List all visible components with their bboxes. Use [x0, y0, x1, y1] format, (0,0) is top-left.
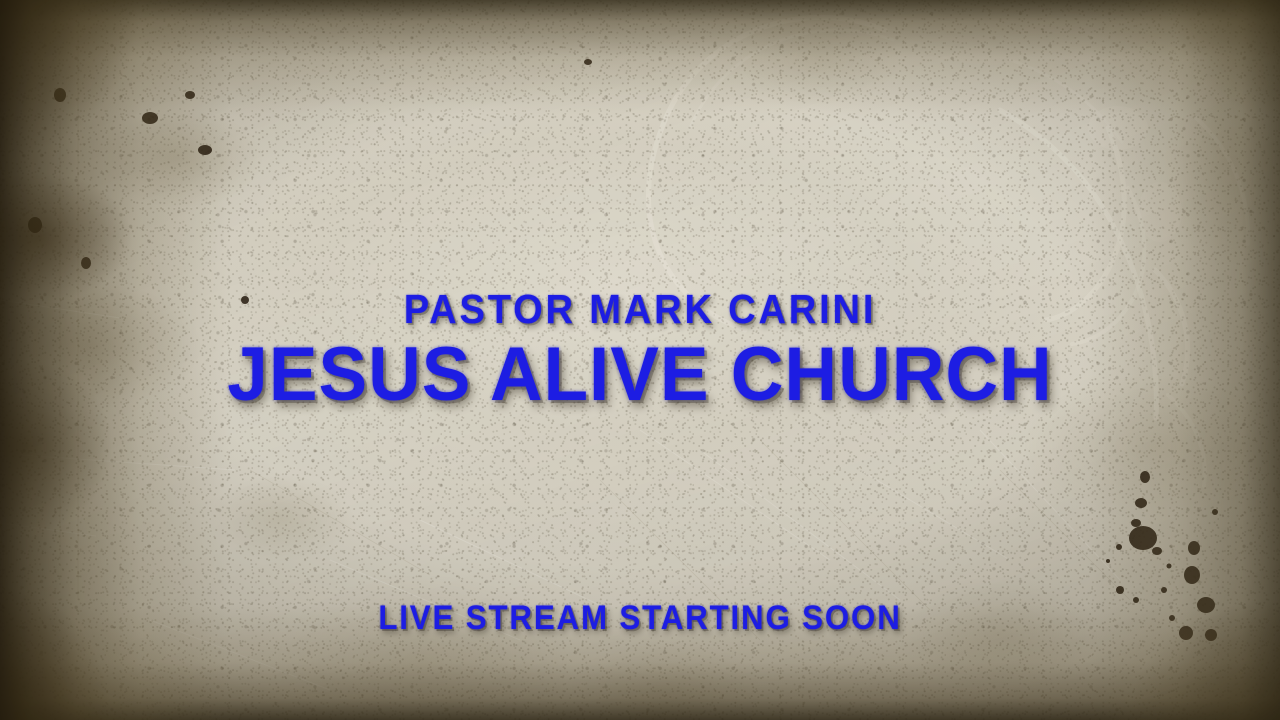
pastor-name-subtitle: PASTOR MARK CARINI: [45, 289, 1235, 330]
livestream-status-text: LIVE STREAM STARTING SOON: [51, 601, 1229, 635]
live-stream-slide: PASTOR MARK CARINI JESUS ALIVE CHURCH LI…: [0, 0, 1280, 720]
church-name-title: JESUS ALIVE CHURCH: [26, 337, 1255, 413]
slide-text-content: PASTOR MARK CARINI JESUS ALIVE CHURCH LI…: [0, 0, 1280, 720]
